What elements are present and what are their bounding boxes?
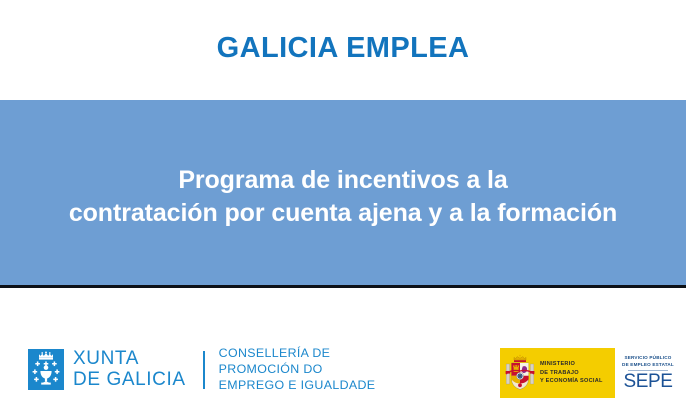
xunta-de-galicia-logo: XUNTA DE GALICIA CONSELLERÍA DE PROMOCIÓ… (28, 346, 375, 394)
sepe-subtitle-line-1: SERVICIO PÚBLICO (622, 355, 674, 362)
conselleria-label: CONSELLERÍA DE PROMOCIÓN DO EMPREGO E IG… (219, 346, 376, 394)
galicia-coat-of-arms-icon (28, 349, 64, 390)
xunta-wordmark-line-2: DE GALICIA (73, 370, 186, 390)
ministerio-label: MINISTERIO DE TRABAJO Y ECONOMÍA SOCIAL (540, 360, 603, 385)
sepe-wordmark: SEPE (623, 372, 672, 391)
spain-coat-of-arms-icon (505, 353, 535, 393)
conselleria-line-1: CONSELLERÍA DE (219, 346, 376, 362)
banner-heading: Programa de incentivos a la contratación… (63, 164, 623, 230)
header-band: GALICIA EMPLEA (0, 0, 686, 100)
conselleria-line-2: PROMOCIÓN DO (219, 362, 376, 378)
ministerio-line-1: MINISTERIO (540, 360, 603, 368)
ministerio-line-3: Y ECONOMÍA SOCIAL (540, 377, 603, 385)
page-title: GALICIA EMPLEA (217, 34, 470, 63)
ministerio-de-trabajo-logo: MINISTERIO DE TRABAJO Y ECONOMÍA SOCIAL (500, 348, 615, 398)
government-logos: MINISTERIO DE TRABAJO Y ECONOMÍA SOCIAL … (500, 348, 681, 398)
sepe-subtitle-line-2: DE EMPLEO ESTATAL (622, 362, 674, 369)
ministerio-line-2: DE TRABAJO (540, 369, 603, 377)
program-banner: Programa de incentivos a la contratación… (0, 100, 686, 285)
logo-divider (203, 351, 205, 389)
xunta-wordmark: XUNTA DE GALICIA (73, 349, 186, 390)
footer-logo-bar: XUNTA DE GALICIA CONSELLERÍA DE PROMOCIÓ… (0, 288, 686, 410)
banner-heading-line-1: Programa de incentivos a la (69, 164, 617, 197)
xunta-wordmark-line-1: XUNTA (73, 349, 186, 369)
sepe-logo: SERVICIO PÚBLICO DE EMPLEO ESTATAL SEPE (615, 348, 681, 398)
banner-heading-line-2: contratación por cuenta ajena y a la for… (69, 197, 617, 230)
conselleria-line-3: EMPREGO E IGUALDADE (219, 378, 376, 394)
sepe-subtitle: SERVICIO PÚBLICO DE EMPLEO ESTATAL (622, 355, 674, 368)
